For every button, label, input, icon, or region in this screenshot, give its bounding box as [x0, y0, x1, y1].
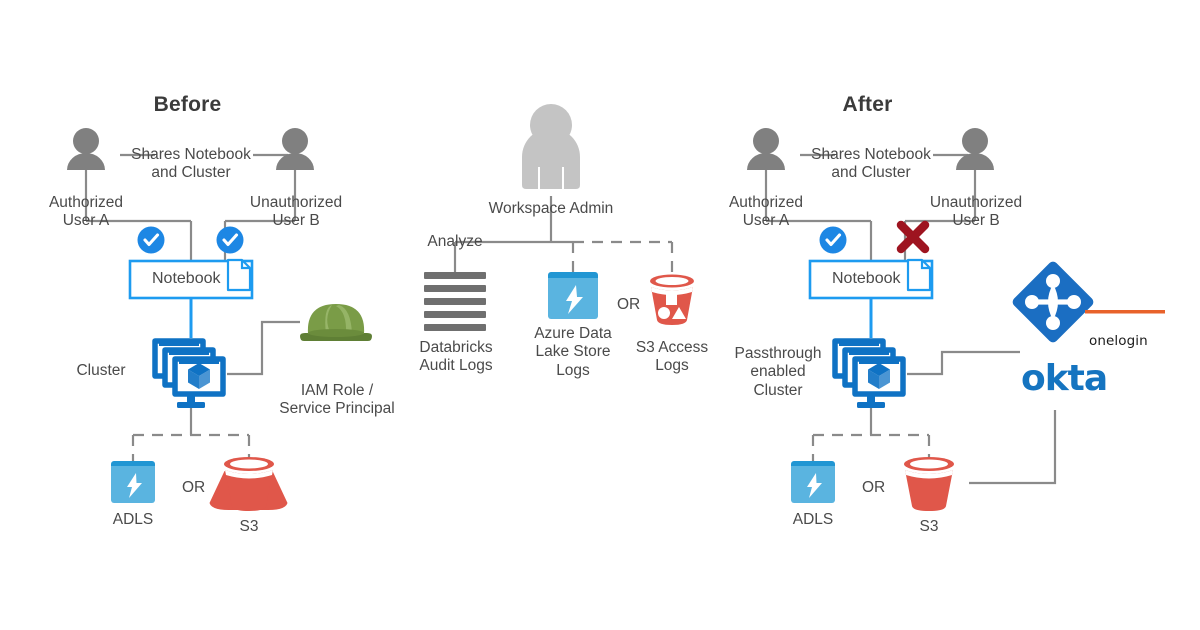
document-icon — [228, 260, 250, 290]
label-analyze: Analyze — [411, 233, 499, 251]
azure-active-directory-icon — [1011, 260, 1096, 345]
label-adls-after: ADLS — [768, 511, 858, 529]
label-or-middle: OR — [617, 296, 640, 314]
label-authorized-user-a-after: Authorized User A — [700, 194, 832, 231]
cluster-monitors-icon — [155, 341, 223, 408]
s3-bucket-icon — [904, 457, 954, 511]
diagram-canvas: Before After — [0, 0, 1200, 630]
document-icon — [908, 260, 930, 290]
onelogin-wordmark: onelogin — [1089, 333, 1148, 349]
azure-data-lake-folder-icon — [111, 461, 155, 503]
label-passthrough-cluster: Passthrough enabled Cluster — [726, 345, 830, 400]
label-cluster-before: Cluster — [58, 362, 144, 380]
label-adls-logs: Azure Data Lake Store Logs — [519, 325, 627, 380]
okta-wordmark: okta — [1021, 358, 1107, 399]
person-icon — [956, 128, 994, 170]
label-adls-before: ADLS — [88, 511, 178, 529]
label-workspace-admin: Workspace Admin — [471, 200, 631, 218]
onelogin-rule — [1085, 310, 1165, 314]
person-icon — [747, 128, 785, 170]
label-or-after: OR — [862, 479, 885, 497]
cluster-monitors-icon — [835, 341, 903, 408]
label-s3-access-logs: S3 Access Logs — [623, 339, 721, 376]
s3-access-logs-bucket-icon — [650, 275, 694, 326]
label-s3-before: S3 — [214, 518, 284, 536]
label-or-before: OR — [182, 479, 205, 497]
hard-hat-icon — [300, 304, 372, 341]
label-authorized-user-a: Authorized User A — [20, 194, 152, 231]
label-shares-before: Shares Notebook and Cluster — [118, 146, 264, 183]
label-unauthorized-user-b-after: Unauthorized User B — [908, 194, 1044, 231]
label-s3-after: S3 — [894, 518, 964, 536]
label-iam-role: IAM Role / Service Principal — [266, 382, 408, 419]
label-notebook-after: Notebook — [832, 270, 901, 288]
log-lines-icon — [424, 272, 486, 331]
azure-data-lake-folder-icon — [548, 272, 598, 319]
admin-person-icon — [522, 104, 580, 189]
icon-layer — [0, 0, 1200, 630]
person-icon — [67, 128, 105, 170]
label-shares-after: Shares Notebook and Cluster — [798, 146, 944, 183]
label-databricks-audit-logs: Databricks Audit Logs — [397, 339, 515, 376]
azure-data-lake-folder-icon — [791, 461, 835, 503]
person-icon — [276, 128, 314, 170]
s3-bucket-icon — [210, 457, 288, 511]
label-notebook-before: Notebook — [152, 270, 221, 288]
label-unauthorized-user-b: Unauthorized User B — [228, 194, 364, 231]
